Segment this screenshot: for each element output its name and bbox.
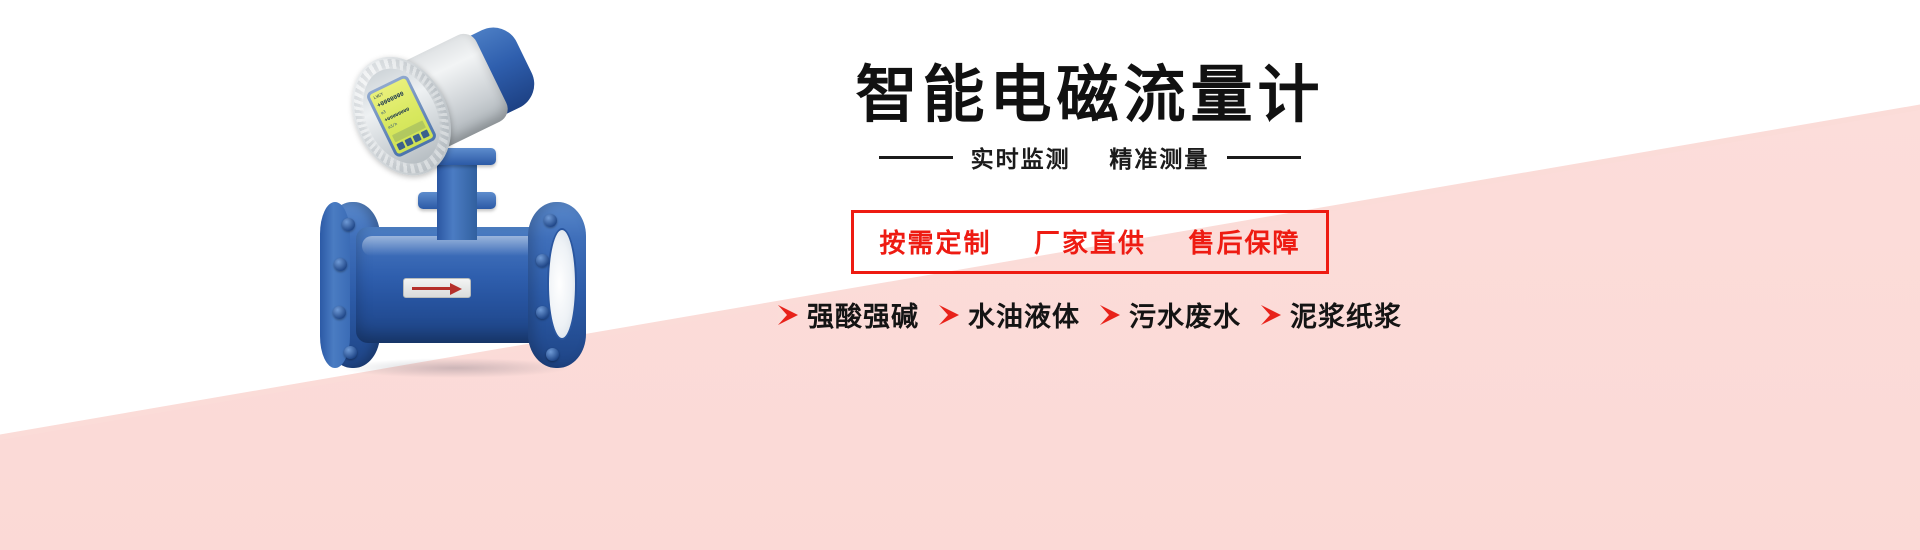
feature-label: 水油液体: [968, 295, 1080, 334]
rule-left: [879, 156, 953, 159]
feature-label: 污水废水: [1129, 295, 1241, 334]
flange-bolt: [546, 348, 559, 361]
feature-list: 强酸强碱 水油液体 污水废水 泥浆纸浆: [600, 295, 1580, 334]
lcd-key-icon: [421, 129, 430, 138]
feature-item: 水油液体: [939, 295, 1080, 334]
banner-content: 智能电磁流量计 实时监测 精准测量 按需定制 厂家直供 售后保障 强酸强碱: [600, 0, 1580, 550]
triangle-right-icon: [939, 305, 959, 325]
flange-bolt: [344, 346, 357, 359]
subtitle-right-text: 精准测量: [1109, 146, 1209, 172]
flow-meter-illustration: LWGY +0000000 m3 +00000000 m3/h: [300, 6, 630, 406]
feature-label: 泥浆纸浆: [1290, 295, 1402, 334]
banner-subtitle: 实时监测 精准测量: [971, 140, 1210, 174]
flange-bolt: [536, 254, 549, 267]
flange-bolt: [544, 214, 557, 227]
triangle-right-icon: [1100, 305, 1120, 325]
tagline-wrapper: 按需定制 厂家直供 售后保障: [600, 210, 1580, 274]
right-flange-bore: [547, 228, 577, 340]
triangle-right-icon: [778, 305, 798, 325]
flange-bolt: [334, 258, 347, 271]
lcd-key-icon: [396, 141, 405, 150]
lcd-key-icon: [404, 137, 413, 146]
feature-item: 污水废水: [1100, 295, 1241, 334]
flange-bolt: [342, 218, 355, 231]
banner-title: 智能电磁流量计: [600, 44, 1580, 134]
flange-bolt: [536, 306, 549, 319]
tagline-item-2: 厂家直供: [1034, 228, 1146, 258]
subtitle-left-text: 实时监测: [971, 146, 1071, 172]
transmitter-head: LWGY +0000000 m3 +00000000 m3/h: [307, 0, 559, 226]
rule-right: [1227, 156, 1301, 159]
tagline-item-1: 按需定制: [880, 228, 992, 258]
device-shadow: [340, 358, 570, 378]
feature-item: 强酸强碱: [778, 295, 919, 334]
flow-direction-plate: [403, 278, 471, 298]
feature-label: 强酸强碱: [807, 295, 919, 334]
tagline-item-3: 售后保障: [1188, 228, 1300, 258]
flange-bolt: [333, 306, 346, 319]
tagline-box: 按需定制 厂家直供 售后保障: [851, 210, 1330, 274]
triangle-right-icon: [1261, 305, 1281, 325]
product-banner: LWGY +0000000 m3 +00000000 m3/h 智能电磁流量计: [0, 0, 1920, 550]
feature-item: 泥浆纸浆: [1261, 295, 1402, 334]
banner-subtitle-row: 实时监测 精准测量: [600, 140, 1580, 174]
lcd-key-icon: [412, 133, 421, 142]
